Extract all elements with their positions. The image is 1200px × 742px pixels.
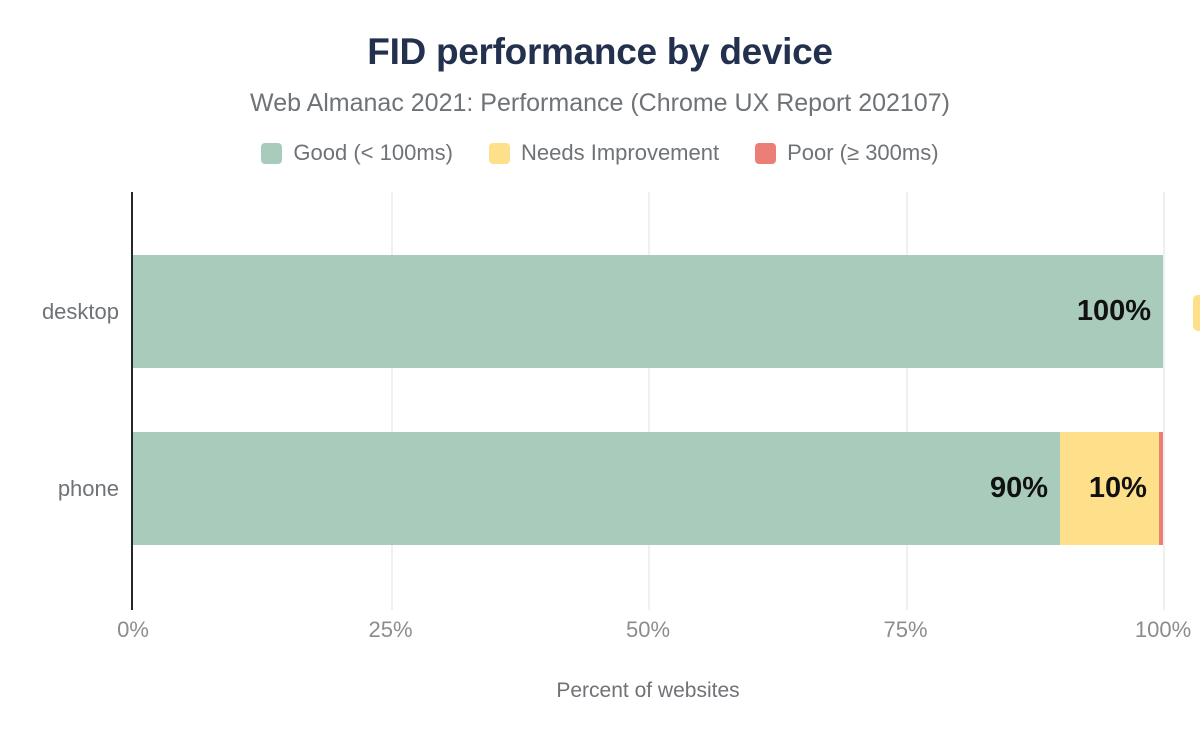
legend-swatch-needs-improvement <box>489 143 510 164</box>
overflow-label-pill <box>1193 295 1200 331</box>
bar-segment[interactable]: 90% <box>133 432 1060 545</box>
chart-legend: Good (< 100ms)Needs ImprovementPoor (≥ 3… <box>0 140 1200 166</box>
y-axis-tick-label: phone <box>0 476 119 502</box>
x-axis-tick-label: 75% <box>883 617 927 643</box>
y-axis-tick-label: desktop <box>0 299 119 325</box>
chart-title: FID performance by device <box>0 30 1200 74</box>
bar-segment[interactable]: 10% <box>1060 432 1159 545</box>
bar-row[interactable]: 90%10% <box>133 432 1163 545</box>
bar-value-label: 100% <box>1077 295 1163 328</box>
legend-item[interactable]: Poor (≥ 300ms) <box>755 140 938 166</box>
x-axis-tick-label: 0% <box>117 617 149 643</box>
bar-value-label: 10% <box>1089 472 1159 505</box>
gridline <box>1163 192 1165 610</box>
legend-item[interactable]: Needs Improvement <box>489 140 719 166</box>
chart-subtitle: Web Almanac 2021: Performance (Chrome UX… <box>0 87 1200 119</box>
plot-area: 100%90%10% <box>133 192 1163 610</box>
bar-value-label: 90% <box>990 472 1060 505</box>
x-axis-tick-label: 50% <box>626 617 670 643</box>
bar-row[interactable]: 100% <box>133 255 1163 368</box>
chart-container: FID performance by device Web Almanac 20… <box>0 0 1200 742</box>
legend-swatch-poor <box>755 143 776 164</box>
legend-swatch-good <box>261 143 282 164</box>
bar-segment[interactable] <box>1159 432 1163 545</box>
x-axis-tick-label: 100% <box>1135 617 1191 643</box>
legend-item-label: Good (< 100ms) <box>293 140 453 166</box>
legend-item-label: Needs Improvement <box>521 140 719 166</box>
legend-item-label: Poor (≥ 300ms) <box>787 140 938 166</box>
x-axis-title: Percent of websites <box>133 678 1163 704</box>
legend-item[interactable]: Good (< 100ms) <box>261 140 453 166</box>
bar-segment[interactable]: 100% <box>133 255 1163 368</box>
x-axis-tick-label: 25% <box>368 617 412 643</box>
